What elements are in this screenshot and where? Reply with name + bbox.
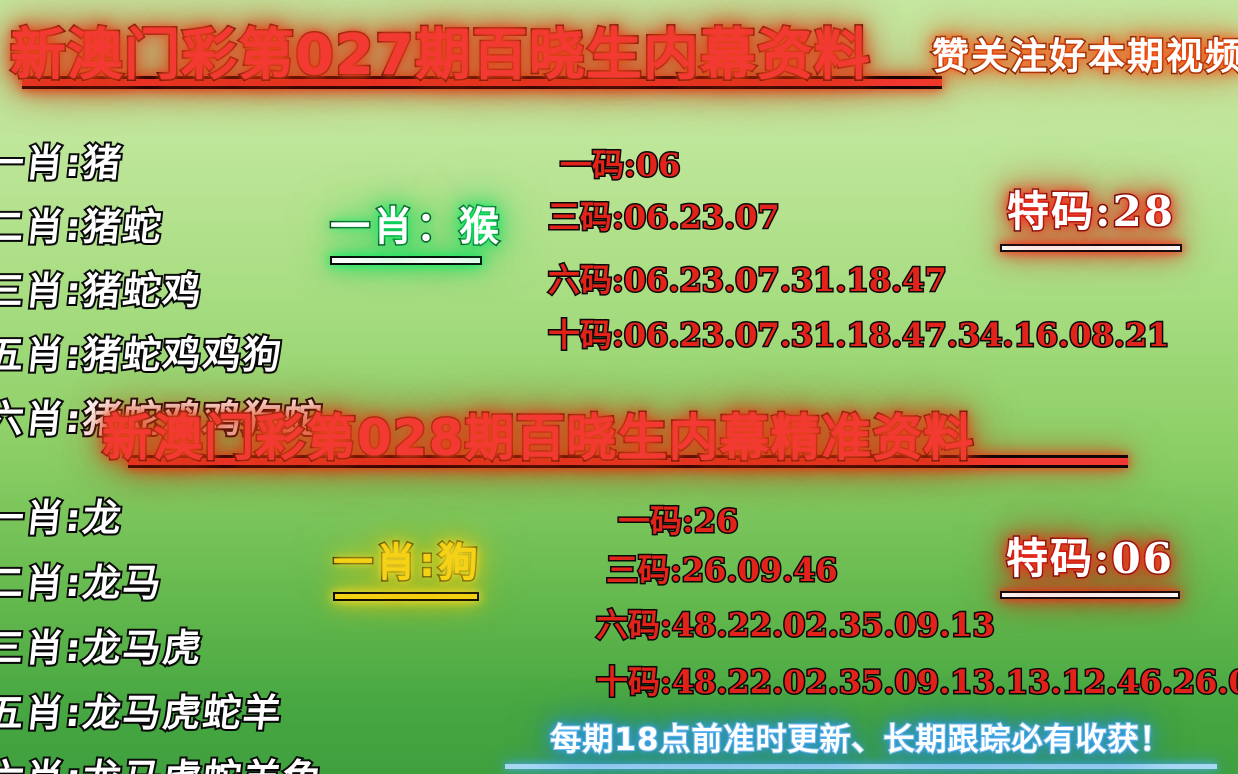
code-row: 十码:48.22.02.35.09.13.13.12.46.26.03 bbox=[596, 657, 1238, 703]
footer-banner: 每期18点前准时更新、长期跟踪必有收获！ bbox=[505, 714, 1217, 769]
section-1-single-pick-underline bbox=[330, 256, 482, 265]
section-2-title-text: 新澳门彩第028期百晓生内幕精准资料 bbox=[102, 409, 974, 467]
zodiac-line: 五肖:龙马虎蛇羊 bbox=[0, 682, 326, 737]
zodiac-line: 三肖:龙马虎 bbox=[0, 617, 326, 672]
zodiac-line: 二肖:猪蛇 bbox=[0, 196, 326, 251]
code-row: 十码:06.23.07.31.18.47.34.16.08.21 bbox=[548, 310, 1169, 356]
code-row: 六码:48.22.02.35.09.13 bbox=[596, 600, 995, 646]
zodiac-line: 二肖:龙马 bbox=[0, 552, 326, 607]
section-2-special-code-label: 特码:06 bbox=[1000, 525, 1180, 586]
section-2-special-code: 特码:06 bbox=[1000, 525, 1180, 599]
zodiac-line: 一肖:猪 bbox=[0, 132, 326, 187]
section-2-single-pick-underline bbox=[333, 592, 479, 601]
zodiac-line: 五肖:猪蛇鸡鸡狗 bbox=[0, 324, 326, 379]
footer-banner-underline bbox=[505, 764, 1217, 769]
code-row: 一码:06 bbox=[560, 140, 680, 186]
section-2-zodiac-list: 一肖:龙 二肖:龙马 三肖:龙马虎 五肖:龙马虎蛇羊 六肖:龙马虎蛇羊兔 bbox=[0, 487, 323, 774]
section-1-single-pick: 一肖：猴 bbox=[330, 194, 502, 265]
section-1-special-code-underline bbox=[1000, 244, 1182, 252]
section-2-title: 新澳门彩第028期百晓生内幕精准资料 bbox=[102, 398, 974, 470]
zodiac-line: 一肖:龙 bbox=[0, 487, 326, 542]
section-1-single-pick-label: 一肖：猴 bbox=[330, 194, 502, 252]
section-2-special-code-underline bbox=[1000, 591, 1180, 599]
poster-canvas: 新澳门彩第027期百晓生内幕资料 赞关注好本期视频 一肖:猪 二肖:猪蛇 三肖:… bbox=[0, 0, 1238, 774]
zodiac-line: 六肖:龙马虎蛇羊兔 bbox=[0, 747, 326, 774]
code-row: 三码:26.09.46 bbox=[606, 545, 838, 591]
section-1-special-code: 特码:28 bbox=[1000, 178, 1182, 252]
section-2-single-pick: 一肖:狗 bbox=[333, 530, 481, 601]
section-2-single-pick-label: 一肖:狗 bbox=[333, 530, 481, 588]
promo-banner: 赞关注好本期视频 bbox=[932, 26, 1238, 80]
code-row: 一码:26 bbox=[618, 496, 738, 542]
section-1-title-text: 新澳门彩第027期百晓生内幕资料 bbox=[10, 23, 871, 88]
code-row: 三码:06.23.07 bbox=[548, 192, 780, 238]
footer-banner-text: 每期18点前准时更新、长期跟踪必有收获！ bbox=[505, 714, 1217, 759]
zodiac-line: 三肖:猪蛇鸡 bbox=[0, 260, 326, 315]
code-row: 六码:06.23.07.31.18.47 bbox=[548, 255, 947, 301]
section-1-title: 新澳门彩第027期百晓生内幕资料 bbox=[10, 10, 871, 91]
section-1-special-code-label: 特码:28 bbox=[1000, 178, 1182, 239]
